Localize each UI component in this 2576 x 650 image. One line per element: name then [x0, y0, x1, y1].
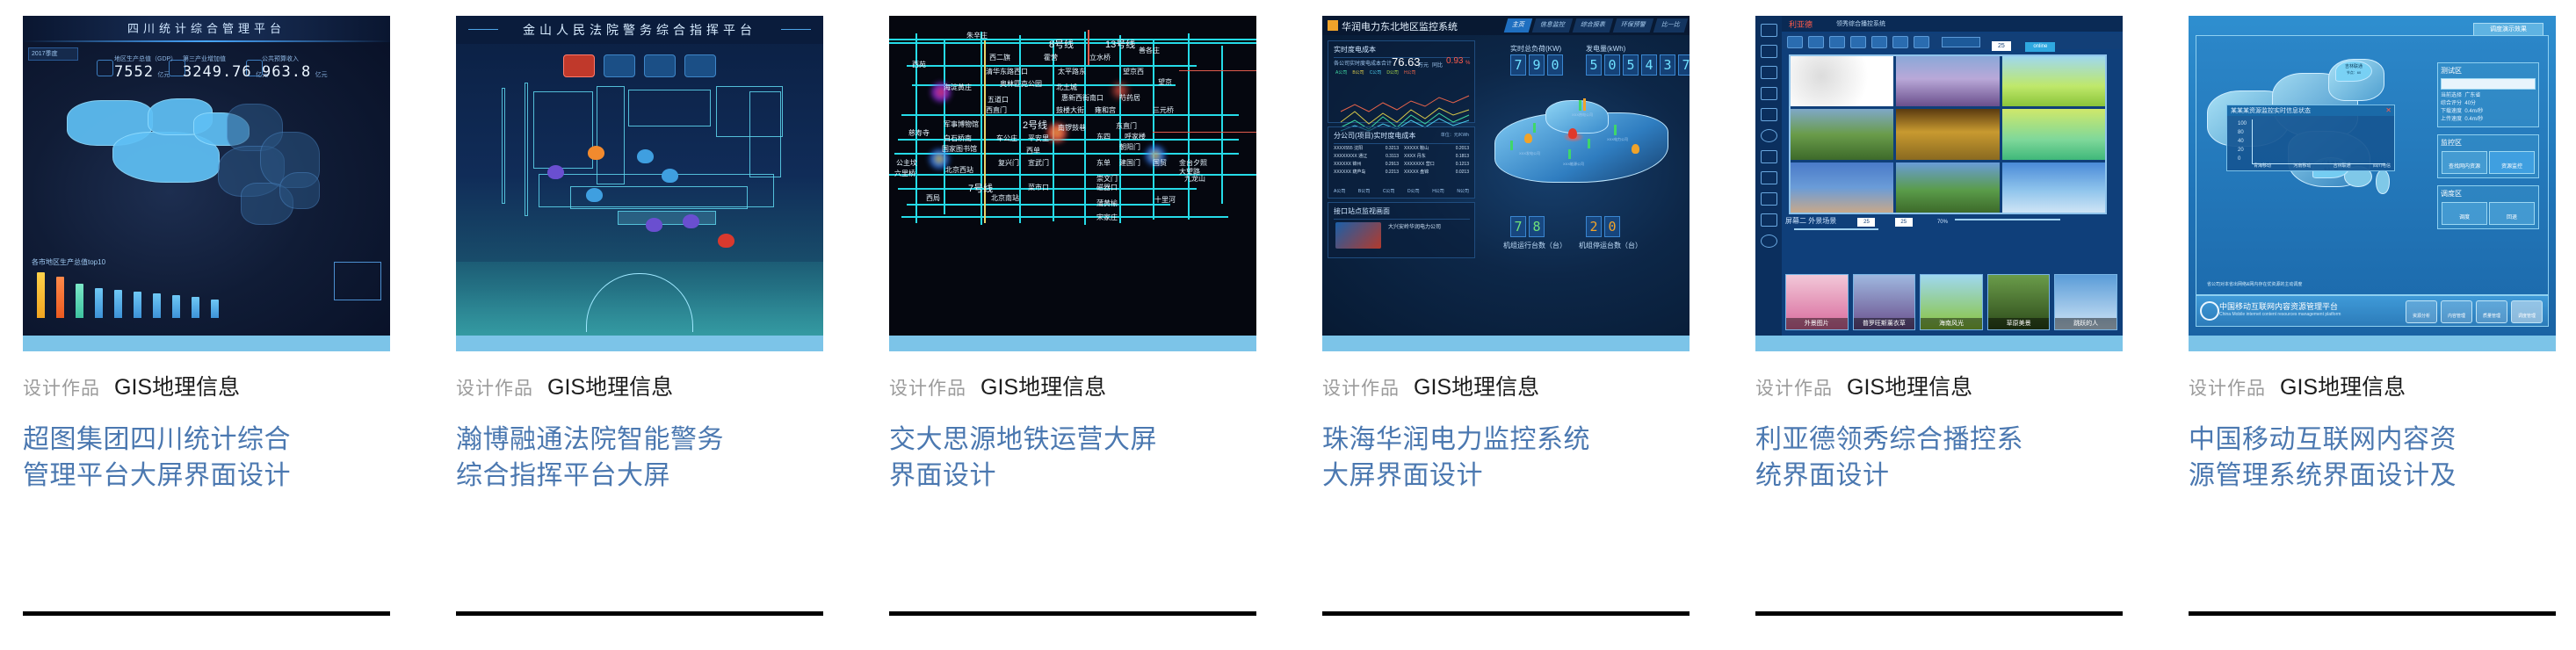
- footer-nav-quality-management[interactable]: 质量管理: [2476, 300, 2507, 323]
- x-tick: 河南移动: [2293, 162, 2311, 169]
- cost-table-right: XXXXX 鞍山0.2013 XXXX 丹东0.1813 XXXXXXX 营口0…: [1404, 145, 1469, 177]
- zoom-slider[interactable]: [1942, 37, 1980, 47]
- work-meta: 设计作品GIS地理信息: [889, 374, 1256, 402]
- line-label: 7号线: [968, 181, 993, 195]
- cost-unit: 万元: [1418, 61, 1429, 69]
- station-label: 清华东路西口: [986, 67, 1028, 76]
- left-toolbar[interactable]: [1755, 16, 1782, 336]
- wall-cell-beach[interactable]: [2002, 56, 2105, 106]
- scene-controls[interactable]: 屏幕二 外景场景 25 25 70%: [1785, 216, 2117, 241]
- map-label: XXX发电公司: [1519, 151, 1540, 156]
- map-pin-access[interactable]: [588, 146, 604, 160]
- station-label: 北京南站: [991, 193, 1019, 203]
- station-label: 朝阳门: [1119, 142, 1140, 152]
- station-label: 东四: [1096, 132, 1111, 141]
- minimap: [334, 262, 381, 300]
- x-tick: 青海移动: [2254, 162, 2271, 169]
- work-title-line2: 统界面设计: [1755, 458, 2107, 494]
- station-label: 鼓楼大街: [1056, 105, 1084, 115]
- brand-name: 利亚德: [1789, 18, 1813, 30]
- tab-all-devices[interactable]: [563, 54, 595, 77]
- media-label: 草原美景: [1988, 318, 2050, 329]
- row-value: 0.2913: [1386, 161, 1399, 169]
- thumbnail-footer-bar: [2189, 336, 2556, 351]
- toolbar[interactable]: 25 online: [1782, 33, 2123, 49]
- footer-nav-content-management[interactable]: 内容管理: [2441, 300, 2472, 323]
- work-thumbnail[interactable]: 朱辛庄 8号线 13号线 西二旗 霍营 立水桥 善各庄 西苑 清华东路西口 太平…: [889, 16, 1256, 351]
- work-card[interactable]: 调度演示效果 吉林联通 节点：60 广东移: [2189, 0, 2556, 494]
- station-label: 车公庄: [996, 134, 1017, 143]
- station-label: 南锣鼓巷: [1058, 123, 1086, 133]
- sidebar-icon-refresh[interactable]: [1761, 235, 1777, 248]
- media-label: 普罗旺斯薰衣草: [1854, 318, 1915, 329]
- map-pin-camera[interactable]: [683, 214, 699, 228]
- media-item[interactable]: 海南风光: [1920, 274, 1983, 330]
- station-label: 十里河: [1154, 195, 1176, 205]
- work-card[interactable]: 四川统计综合管理平台 2017季度 地区生产总值（GDP） 7552 亿元 第三…: [23, 0, 390, 494]
- work-title[interactable]: 瀚博融通法院智能警务 综合指挥平台大屏: [456, 422, 807, 494]
- work-card[interactable]: 朱辛庄 8号线 13号线 西二旗 霍营 立水桥 善各庄 西苑 清华东路西口 太平…: [889, 0, 1256, 494]
- zoom-value[interactable]: 25: [1992, 41, 2011, 51]
- station-label: 善各庄: [1139, 46, 1160, 55]
- row-key: 上传速度: [2441, 117, 2462, 122]
- line-label: 8号线: [1049, 37, 1074, 51]
- legend-h: H公司: [1404, 69, 1416, 76]
- button-find-resources[interactable]: 查找网内资源: [2442, 151, 2487, 174]
- map-pin-fire[interactable]: [637, 149, 654, 163]
- work-title[interactable]: 利亚德领秀综合播控系 统界面设计: [1755, 422, 2107, 494]
- scene-label: 屏幕二 外景场景: [1785, 217, 1836, 225]
- cost-value: 76.63: [1392, 55, 1421, 69]
- map-stage: 吉林联通 节点：60 广东移动 节点：60 某某某资源监控实时信息状态 ✕ 10…: [2196, 35, 2549, 295]
- tool-icon-save[interactable]: [1808, 36, 1824, 48]
- sidebar-icon-screen[interactable]: [1761, 24, 1777, 37]
- work-title[interactable]: 交大思源地铁运营大屏 界面设计: [889, 422, 1241, 494]
- work-meta: 设计作品GIS地理信息: [23, 374, 390, 402]
- metric-label-stopped: 机组停运台数（台）: [1579, 241, 1642, 250]
- screen-title: 领秀综合播控系统: [1836, 19, 1885, 28]
- station-caption: 大兴安岭华润电力公司: [1388, 222, 1441, 230]
- nav-item-reports[interactable]: 综合报表: [1573, 18, 1614, 32]
- sidebar-icon-playlist[interactable]: [1761, 87, 1777, 100]
- sidebar-icon-plan[interactable]: [1761, 66, 1777, 79]
- sidebar-icon-basemap[interactable]: [1761, 192, 1777, 206]
- work-card[interactable]: 金山人民法院警务综合指挥平台: [456, 0, 823, 494]
- station-label: 九龙山: [1184, 174, 1205, 184]
- work-thumbnail[interactable]: 利亚德 领秀综合播控系统 25 online: [1755, 16, 2123, 351]
- kpi-label: 第三产业增加值: [183, 54, 268, 63]
- footer-title-cn: 中国移动互联网内容资源管理平台: [2219, 300, 2338, 312]
- x-tick: 四川电信: [2373, 162, 2391, 169]
- work-category: 设计作品: [2189, 379, 2266, 399]
- map-pin-camera[interactable]: [646, 218, 662, 232]
- row-value: 0.3113: [1386, 153, 1399, 161]
- delta-unit: %: [1465, 61, 1470, 66]
- tab-video-surveillance[interactable]: [684, 54, 716, 77]
- row-value: 0.1813: [1456, 153, 1469, 161]
- panel-monitor-zone: 监控区 查找网内资源资源监控: [2437, 134, 2539, 178]
- legend-d: D公司: [1386, 69, 1399, 76]
- map-pin-warn[interactable]: [1632, 144, 1639, 154]
- work-title-line2: 界面设计: [889, 458, 1241, 494]
- map-label: XXX热电公司: [1572, 112, 1593, 118]
- delta-label: 同比: [1432, 61, 1443, 69]
- foot-n: N公司: [1457, 188, 1469, 194]
- station-label: 呼家楼: [1125, 132, 1146, 141]
- x-tick: 吉林联通: [2334, 162, 2351, 169]
- tab-fire-devices[interactable]: [604, 54, 635, 77]
- media-label: 外景图片: [1786, 318, 1848, 329]
- row-value: 0.3213: [1386, 145, 1399, 153]
- foot-b: B公司: [1358, 188, 1370, 194]
- station-label: 芍药居: [1119, 93, 1140, 103]
- station-label: 慈寿寺: [908, 128, 930, 138]
- card-divider: [1322, 611, 1690, 616]
- tool-icon-grid[interactable]: [1914, 36, 1929, 48]
- screen-title: 金山人民法院警务综合指挥平台: [523, 21, 756, 39]
- line-label: 13号线: [1105, 37, 1135, 51]
- panel-realtime-cost: 实时度电成本 各公司实时度电成本合计 76.63 万元 同比 0.93 % A公…: [1328, 40, 1475, 123]
- row-name: XXXXXXXX 通辽: [1334, 153, 1367, 161]
- nav-item-env-alert[interactable]: 环保预警: [1613, 18, 1654, 32]
- work-category: 设计作品: [1755, 379, 1833, 399]
- thumbnail-screenshot-broadcast-control: 利亚德 领秀综合播控系统 25 online: [1755, 16, 2123, 336]
- gdp-icon: [97, 60, 113, 76]
- period-selector[interactable]: 2017季度: [28, 47, 78, 61]
- station-label: 三元桥: [1153, 105, 1174, 115]
- sidebar-icon-stream[interactable]: [1761, 129, 1777, 142]
- dialog-title: 某某某资源监控实时信息状态: [2227, 105, 2394, 116]
- station-photo: [1335, 222, 1381, 249]
- wall-cell-family-beach[interactable]: [1791, 162, 1893, 213]
- opacity-slider[interactable]: [1955, 219, 2060, 220]
- wall-cell-dancers[interactable]: [1791, 56, 1893, 106]
- foot-h: H公司: [1432, 188, 1444, 194]
- app-header: 利亚德 领秀综合播控系统: [1782, 16, 2123, 32]
- foot-a: A公司: [1334, 188, 1345, 194]
- panel-title: 测试区: [2441, 66, 2536, 76]
- thumbnail-footer-bar: [456, 336, 823, 351]
- map-pin-warn[interactable]: [1524, 134, 1532, 143]
- screen-header: 四川统计综合管理平台: [23, 16, 390, 42]
- thumbnail-screenshot-court-command: 金山人民法院警务综合指挥平台: [456, 16, 823, 336]
- work-meta: 设计作品GIS地理信息: [1755, 374, 2123, 402]
- cost-table-footer: A公司 B公司 C公司 D公司 H公司 N公司: [1334, 188, 1469, 194]
- nav-item-home[interactable]: 主页: [1504, 18, 1533, 32]
- y-tick: 80: [2238, 128, 2247, 137]
- map-pin-camera[interactable]: [547, 165, 564, 179]
- footer-title-en: China Mobile internet content resources …: [2219, 312, 2341, 317]
- media-item[interactable]: 外景图片: [1785, 274, 1849, 330]
- work-title-line1: 利亚德领秀综合播控系: [1755, 422, 2107, 458]
- panel-test-zone: 测试区 当前选择 广东省 综合评分 40分 下载速度 0.4m/秒 上传速度 0…: [2437, 62, 2539, 127]
- work-kind: GIS地理信息: [2280, 375, 2406, 400]
- legend-a: A公司: [1335, 69, 1347, 76]
- row: 当前选择 广东省: [2441, 92, 2536, 100]
- thumbnail-footer-bar: [889, 336, 1256, 351]
- header-dash-left-icon: [468, 29, 498, 30]
- screen-header: 华润电力东北地区监控系统 主页 信息监控 综合报表 环保预警 比一比: [1322, 16, 1690, 35]
- station-label: 海淀黄庄: [944, 83, 972, 92]
- map-pin-fire[interactable]: [662, 169, 678, 183]
- row-key: 综合评分: [2441, 101, 2462, 106]
- work-title-line1: 珠海华润电力监控系统: [1322, 422, 1674, 458]
- sidebar-icon-image[interactable]: [1761, 171, 1777, 184]
- media-strip[interactable]: 外景图片 普罗旺斯薰衣草 海南风光 草原美景 跳跃的人: [1785, 274, 2117, 330]
- station-label: 磁器口: [1096, 183, 1118, 192]
- card-divider: [1755, 611, 2123, 616]
- row-value: 40分: [2464, 101, 2476, 106]
- station-label: 白石桥南: [944, 134, 972, 143]
- panel-subtitle: 各公司实时度电成本合计: [1334, 59, 1392, 67]
- panel-title: 接口站点监视画面: [1328, 203, 1474, 220]
- row-value: 0.4m/秒: [2464, 109, 2483, 114]
- row-name: XXXXX 盘锦: [1404, 169, 1429, 177]
- work-thumbnail[interactable]: 金山人民法院警务综合指挥平台: [456, 16, 823, 351]
- legend-b: B公司: [1352, 69, 1364, 76]
- tool-icon-layout[interactable]: [1829, 36, 1845, 48]
- row-value: 广东省: [2464, 93, 2480, 98]
- work-title-line2: 综合指挥平台大屏: [456, 458, 807, 494]
- resource-monitor-dialog[interactable]: 某某某资源监控实时信息状态 ✕ 100 80 40 20 0 青海移动: [2226, 105, 2395, 171]
- wall-cell-hills[interactable]: [1791, 109, 1893, 159]
- work-kind: GIS地理信息: [1414, 375, 1539, 400]
- thumbnail-footer-bar: [1322, 336, 1690, 351]
- work-title-line2: 源管理系统界面设计及: [2189, 458, 2540, 494]
- station-label: 东单: [1096, 158, 1111, 168]
- nav-item-info-monitor[interactable]: 信息监控: [1532, 18, 1574, 32]
- card-divider: [2189, 611, 2556, 616]
- metric-value-generation: 5054370: [1586, 54, 1690, 76]
- screen-title: 华润电力东北地区监控系统: [1342, 19, 1458, 33]
- station-label: 蒲黄榆: [1096, 199, 1118, 208]
- delta-value: 0.93: [1446, 56, 1463, 66]
- tab-access-devices[interactable]: [644, 54, 676, 77]
- station-label: 西苑: [912, 60, 926, 69]
- work-category: 设计作品: [889, 379, 966, 399]
- row: 上传速度 0.4m/秒: [2441, 116, 2536, 124]
- media-item[interactable]: 跳跃的人: [2054, 274, 2117, 330]
- station-label: 菜市口: [1028, 183, 1049, 192]
- station-label: 朱辛庄: [966, 31, 988, 40]
- legend-c: C公司: [1370, 69, 1382, 76]
- work-title-line2: 大屏界面设计: [1322, 458, 1674, 494]
- tool-icon-new[interactable]: [1787, 36, 1803, 48]
- station-label: 国贸: [1153, 158, 1167, 168]
- media-item[interactable]: 草原美景: [1987, 274, 2051, 330]
- work-title[interactable]: 超图集团四川统计综合 管理平台大屏界面设计: [23, 422, 374, 494]
- work-category: 设计作品: [23, 379, 100, 399]
- work-thumbnail[interactable]: 四川统计综合管理平台 2017季度 地区生产总值（GDP） 7552 亿元 第三…: [23, 16, 390, 351]
- work-kind: GIS地理信息: [114, 375, 240, 400]
- sidebar-icon-subtitle[interactable]: [1761, 213, 1777, 227]
- row-value: 0.2213: [1386, 169, 1399, 177]
- thumbnail-screenshot-china-mobile: 调度演示效果 吉林联通 节点：60 广东移: [2189, 16, 2556, 336]
- footer-nav-dispatch-management[interactable]: 调度管理: [2511, 300, 2543, 323]
- bar-chart-caption: 各市地区生产总值top10: [32, 257, 105, 267]
- station-label: 平安里: [1028, 134, 1049, 143]
- metric-value-load: 790: [1510, 54, 1563, 76]
- panel-title: 调度区: [2441, 189, 2536, 199]
- china-map: [60, 77, 350, 244]
- work-thumbnail[interactable]: 华润电力东北地区监控系统 主页 信息监控 综合报表 环保预警 比一比 实时度电成…: [1322, 16, 1690, 351]
- row-name: XXXX 丹东: [1404, 153, 1426, 161]
- row: 下载速度 0.4m/秒: [2441, 108, 2536, 116]
- close-icon[interactable]: ✕: [2385, 106, 2391, 114]
- app-footer: 中国移动互联网内容资源管理平台 China Mobile internet co…: [2196, 295, 2549, 327]
- foot-c: C公司: [1383, 188, 1395, 194]
- station-label: 六里桥: [894, 169, 915, 178]
- work-card[interactable]: 利亚德 领秀综合播控系统 25 online: [1755, 0, 2123, 494]
- percent-label: 70%: [1937, 220, 1948, 225]
- work-title[interactable]: 中国移动互联网内容资 源管理系统界面设计及: [2189, 422, 2540, 494]
- work-meta: 设计作品GIS地理信息: [1322, 374, 1690, 402]
- panel-branch-cost: 分公司(项目)实时度电成本 单位：元/KWh XXXX555 沈阳0.3213 …: [1328, 126, 1475, 199]
- work-meta: 设计作品GIS地理信息: [2189, 374, 2556, 402]
- work-thumbnail[interactable]: 调度演示效果 吉林联通 节点：60 广东移: [2189, 16, 2556, 351]
- row-key: 当前选择: [2441, 93, 2462, 98]
- button-dispatch[interactable]: 调度: [2442, 202, 2487, 225]
- button-rollback[interactable]: 回退: [2489, 202, 2535, 225]
- row-name: XXXXX 鞍山: [1404, 145, 1429, 153]
- station-label: 五道口: [988, 95, 1009, 105]
- bar-chart: [37, 272, 219, 318]
- screen-title: 四川统计综合管理平台: [127, 19, 286, 36]
- station-label: 西单: [1026, 146, 1040, 155]
- right-panels: 测试区 当前选择 广东省 综合评分 40分 下载速度 0.4m/秒 上传速度 0…: [2437, 62, 2539, 236]
- video-wall[interactable]: [1789, 54, 2107, 214]
- card-divider: [23, 611, 390, 616]
- wall-cell-music[interactable]: [2002, 109, 2105, 159]
- map-pin-alert[interactable]: [1568, 128, 1577, 139]
- wall-cell-jumping[interactable]: [2002, 162, 2105, 213]
- y-tick: 0: [2238, 155, 2247, 163]
- station-label: 立水桥: [1089, 53, 1111, 62]
- china-mobile-logo-icon: [2200, 301, 2219, 321]
- work-title-line1: 中国移动互联网内容资: [2189, 422, 2540, 458]
- thumbnail-screenshot-power-monitoring: 华润电力东北地区监控系统 主页 信息监控 综合报表 环保预警 比一比 实时度电成…: [1322, 16, 1690, 336]
- station-label: 望京西: [1123, 67, 1144, 76]
- kpi-label: 地区生产总值（GDP）: [114, 54, 177, 63]
- map-pin-fire[interactable]: [586, 188, 603, 202]
- card-divider: [456, 611, 823, 616]
- station-label: 西二旗: [989, 53, 1010, 62]
- header-dash-right-icon: [781, 29, 811, 30]
- tab-dispatch-demo[interactable]: 调度演示效果: [2473, 23, 2543, 36]
- brand-logo-icon: [1328, 20, 1338, 31]
- panel-unit-label: 单位：元/KWh: [1441, 132, 1469, 138]
- station-label: 北京西站: [945, 165, 973, 175]
- work-title[interactable]: 珠海华润电力监控系统 大屏界面设计: [1322, 422, 1674, 494]
- station-label: 雍和宫: [1095, 105, 1116, 115]
- sidebar-icon-video-source[interactable]: [1761, 108, 1777, 121]
- map-label: XXX能源公司: [1563, 162, 1584, 167]
- works-grid: 四川统计综合管理平台 2017季度 地区生产总值（GDP） 7552 亿元 第三…: [0, 0, 2576, 494]
- metric-label-load: 实时总负荷(KW): [1510, 44, 1561, 54]
- row-value: 0.4m/秒: [2464, 117, 2483, 122]
- panel-dispatch-zone: 调度区 调度回退: [2437, 185, 2539, 229]
- station-label: 复兴门: [998, 158, 1019, 168]
- map-pin-alarm[interactable]: [718, 234, 734, 248]
- wall-cell-autumn-road[interactable]: [1896, 109, 1999, 159]
- kpi-label: 公共预算收入: [262, 54, 328, 63]
- footer-nav-resource-analysis[interactable]: 资源分析: [2406, 300, 2437, 323]
- work-title-line2: 管理平台大屏界面设计: [23, 458, 374, 494]
- work-category: 设计作品: [456, 379, 533, 399]
- y-tick: 40: [2238, 137, 2247, 146]
- device-filter-tabs[interactable]: [563, 54, 716, 77]
- station-label: 公主坟: [896, 158, 917, 168]
- tool-icon-paste[interactable]: [1871, 36, 1887, 48]
- work-category: 设计作品: [1322, 379, 1400, 399]
- height-field[interactable]: 25: [1895, 218, 1913, 227]
- map-pin-jilin[interactable]: 吉林联通 节点：60: [2335, 61, 2372, 82]
- media-item[interactable]: 普罗旺斯薰衣草: [1853, 274, 1916, 330]
- row-name: XXXXXX 葫芦岛: [1334, 169, 1365, 177]
- volume-slider[interactable]: [1794, 228, 1878, 230]
- metric-value-stopped: 20: [1586, 216, 1620, 237]
- metric-label-generation: 发电量(kWh): [1586, 44, 1625, 54]
- media-label: 跳跃的人: [2055, 318, 2117, 329]
- wall-cell-coast[interactable]: [1896, 162, 1999, 213]
- thumbnail-screenshot-sichuan-statistics: 四川统计综合管理平台 2017季度 地区生产总值（GDP） 7552 亿元 第三…: [23, 16, 390, 336]
- row-value: 0.0213: [1456, 169, 1469, 177]
- metric-label-running: 机组运行台数（台）: [1503, 241, 1567, 250]
- station-label: 宣武门: [1028, 158, 1049, 168]
- search-input[interactable]: [2441, 78, 2536, 90]
- station-label: 东直门: [1116, 121, 1137, 131]
- tool-icon-copy[interactable]: [1850, 36, 1866, 48]
- work-kind: GIS地理信息: [980, 375, 1106, 400]
- y-tick: 100: [2238, 119, 2247, 128]
- row-name: XXXXXXX 营口: [1404, 161, 1435, 169]
- work-kind: GIS地理信息: [547, 375, 673, 400]
- station-label: 宋家庄: [1096, 213, 1118, 222]
- station-label: 惠新西街南口: [1061, 93, 1103, 103]
- work-title-line1: 瀚博融通法院智能警务: [456, 422, 807, 458]
- wall-cell-lavender[interactable]: [1896, 56, 1999, 106]
- panel-title: 监控区: [2441, 138, 2536, 148]
- work-title-line1: 交大思源地铁运营大屏: [889, 422, 1241, 458]
- card-divider: [889, 611, 1256, 616]
- cost-table-left: XXXX555 沈阳0.3213 XXXXXXXX 通辽0.3113 XXXXX…: [1334, 145, 1399, 177]
- station-label: 北土城: [1056, 83, 1077, 92]
- station-label: 西局: [926, 193, 940, 203]
- row-value: 0.2013: [1456, 145, 1469, 153]
- sidebar-icon-files[interactable]: [1761, 150, 1777, 163]
- tool-icon-align[interactable]: [1892, 36, 1908, 48]
- northeast-region-map: XXX发电公司 XXX热电公司 XXX电力公司 XXX能源公司: [1494, 93, 1672, 199]
- nav-item-compare[interactable]: 比一比: [1653, 18, 1689, 32]
- panel-station-monitor: 接口站点监视画面 大兴安岭华润电力公司: [1328, 202, 1475, 258]
- stage-note: 省公司对本省出网络&网内存在优资源的主动调度: [2207, 281, 2302, 287]
- row-value: 0.1213: [1456, 161, 1469, 169]
- station-label: 太平路东: [1058, 67, 1086, 76]
- button-resource-monitor[interactable]: 资源监控: [2489, 151, 2535, 174]
- work-card[interactable]: 华润电力东北地区监控系统 主页 信息监控 综合报表 环保预警 比一比 实时度电成…: [1322, 0, 1690, 494]
- sidebar-icon-scene[interactable]: [1761, 45, 1777, 58]
- station-label: 军事博物馆: [944, 119, 979, 129]
- map-label: XXX电力公司: [1607, 137, 1628, 142]
- top-nav[interactable]: 主页 信息监控 综合报表 环保预警 比一比: [1506, 18, 1686, 32]
- width-field[interactable]: 25: [1857, 218, 1875, 227]
- row-name: XXXXXX 锦州: [1334, 161, 1361, 169]
- row: 综合评分 40分: [2441, 100, 2536, 108]
- station-label: 奥林匹克公园: [1000, 79, 1042, 89]
- work-kind: GIS地理信息: [1847, 375, 1972, 400]
- screen-header: 金山人民法院警务综合指挥平台: [456, 16, 823, 44]
- thumbnail-footer-bar: [1755, 336, 2123, 351]
